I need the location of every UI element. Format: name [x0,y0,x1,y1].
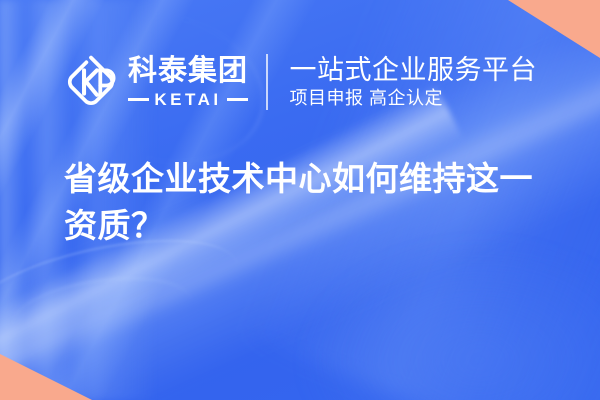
tagline-sub: 项目申报 高企认定 [290,89,538,108]
tagline-block: 一站式企业服务平台 项目申报 高企认定 [290,56,538,109]
brand-dash-right [227,98,248,101]
page-title: 省级企业技术中心如何维持这一资质？ [64,156,560,250]
brand-dash-left [128,98,149,101]
brand-name-en: KETAI [149,91,226,108]
brand-name-en-row: KETAI [128,91,248,108]
banner-header: 科泰集团 KETAI 一站式企业服务平台 项目申报 高企认定 [0,44,600,120]
brand-logo[interactable]: 科泰集团 KETAI [62,53,248,111]
brand-wordmark: 科泰集团 KETAI [128,57,248,108]
header-divider [266,54,268,110]
promo-banner: 科泰集团 KETAI 一站式企业服务平台 项目申报 高企认定 省级企业技术中心如… [0,0,600,400]
brand-name-cn: 科泰集团 [128,57,248,86]
tagline-main: 一站式企业服务平台 [290,56,538,85]
kp-diamond-logo-icon [62,53,120,111]
